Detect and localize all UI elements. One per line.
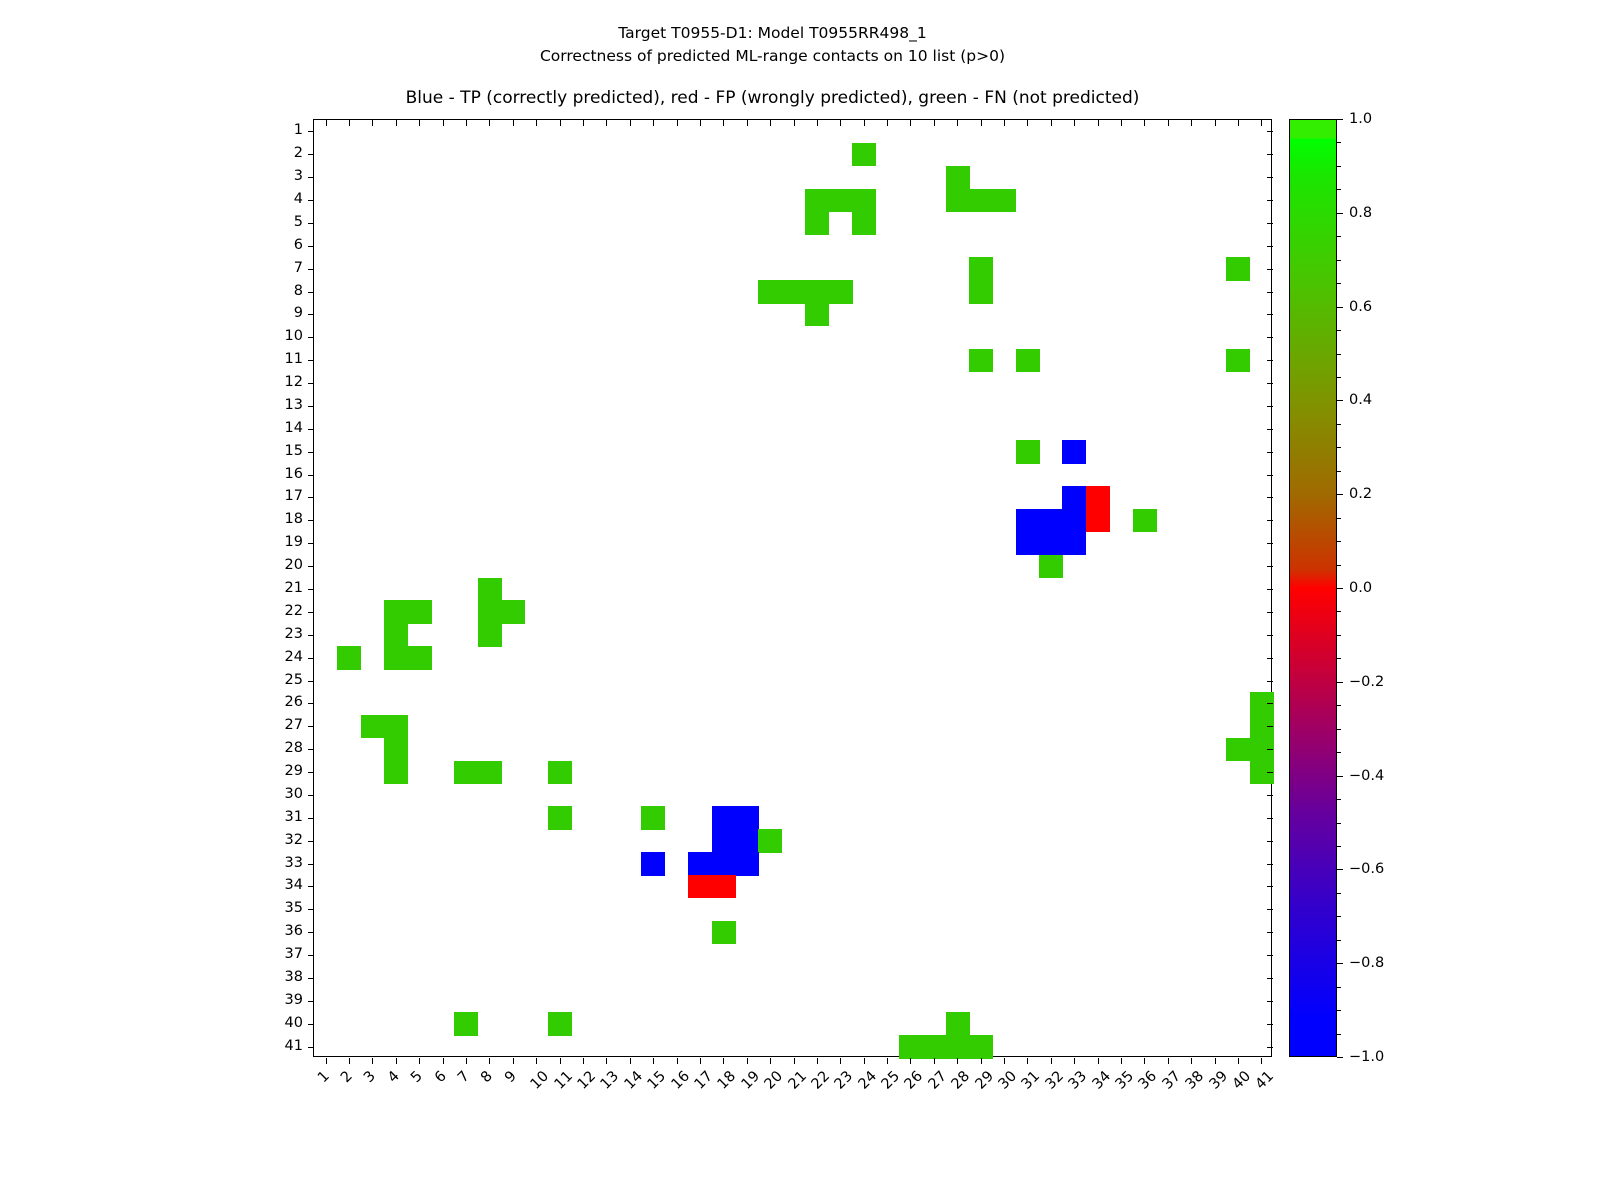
y-tick-label: 1 [257,123,303,138]
y-tick [1267,1024,1273,1025]
y-tick [1267,955,1273,956]
x-tick [536,1058,537,1064]
y-tick-label: 10 [257,329,303,344]
y-tick [1267,429,1273,430]
heatmap-cell-fn [384,715,408,738]
contact-map-figure: Target T0955-D1: Model T0955RR498_1 Corr… [0,0,1600,1200]
y-tick-label: 26 [257,695,303,710]
x-tick [840,120,841,126]
x-tick [887,120,888,126]
x-tick-label: 4 [386,1069,403,1086]
y-tick-label: 29 [257,764,303,779]
x-tick-label: 10 [529,1069,552,1092]
colorbar-tick [1337,400,1343,401]
y-tick [308,795,314,796]
x-tick [1004,120,1005,126]
y-tick-label: 5 [257,215,303,230]
colorbar-tick-label: −0.6 [1349,862,1384,877]
y-tick [308,131,314,132]
y-tick [1267,497,1273,498]
y-tick [1267,703,1273,704]
y-tick-label: 36 [257,924,303,939]
y-tick [308,749,314,750]
legend-subtitle: Blue - TP (correctly predicted), red - F… [0,88,1545,108]
y-tick [1267,269,1273,270]
y-tick [1267,635,1273,636]
x-tick [326,120,327,126]
x-tick-label: 26 [903,1069,926,1092]
heatmap-cell-fn [384,761,408,784]
colorbar-minor-tick [1337,447,1341,448]
heatmap-cells [314,120,1271,1056]
y-tick [308,406,314,407]
colorbar-gradient [1289,119,1337,1057]
x-tick [466,1058,467,1064]
x-tick [1168,1058,1169,1064]
heatmap-cell-tp [1062,532,1086,555]
x-tick [372,1058,373,1064]
x-tick [1098,1058,1099,1064]
y-tick [308,292,314,293]
y-tick-label: 7 [257,261,303,276]
y-tick [1267,177,1273,178]
x-tick-label: 8 [479,1069,496,1086]
heatmap-cell-fn [548,761,572,784]
x-tick [630,1058,631,1064]
colorbar-tick [1337,1057,1343,1058]
y-tick [308,909,314,910]
y-tick-label: 22 [257,604,303,619]
heatmap-cell-fp [712,875,736,898]
x-tick-label: 19 [739,1069,762,1092]
y-tick [1267,589,1273,590]
heatmap-cell-tp [1016,532,1040,555]
heatmap-cell-fn [384,623,408,646]
y-tick [1267,200,1273,201]
colorbar-minor-tick [1337,611,1341,612]
x-tick-label: 32 [1043,1069,1066,1092]
y-tick-label: 30 [257,787,303,802]
x-tick [1074,120,1075,126]
x-tick-label: 21 [786,1069,809,1092]
y-tick [1267,566,1273,567]
y-tick [1267,223,1273,224]
heatmap-cell-tp [735,852,759,875]
colorbar-minor-tick [1337,471,1341,472]
x-tick [1215,120,1216,126]
y-tick [308,246,314,247]
y-tick [308,864,314,865]
y-tick [1267,383,1273,384]
x-tick [326,1058,327,1064]
y-tick-label: 41 [257,1039,303,1054]
y-tick [1267,681,1273,682]
colorbar-minor-tick [1337,330,1341,331]
colorbar-tick [1337,588,1343,589]
x-tick [1238,120,1239,126]
colorbar-tick [1337,776,1343,777]
y-tick [308,658,314,659]
y-tick [308,383,314,384]
y-tick [1267,131,1273,132]
x-tick [1261,120,1262,126]
y-tick [1267,406,1273,407]
colorbar-tick-label: −0.4 [1349,769,1384,784]
y-tick-label: 21 [257,581,303,596]
x-tick [981,120,982,126]
y-tick-label: 28 [257,741,303,756]
colorbar-minor-tick [1337,940,1341,941]
y-tick-label: 16 [257,467,303,482]
y-tick [308,223,314,224]
x-tick [794,120,795,126]
y-tick [308,1047,314,1048]
heatmap-cell-tp [1016,509,1040,532]
colorbar-minor-tick [1337,260,1341,261]
heatmap-cell-fn [829,189,853,212]
colorbar-tick [1337,307,1343,308]
y-tick [308,612,314,613]
x-tick [864,1058,865,1064]
colorbar-tick-label: 0.8 [1349,206,1372,221]
colorbar-tick-label: 0.2 [1349,487,1372,502]
y-tick-label: 33 [257,856,303,871]
y-tick [308,818,314,819]
y-tick-label: 19 [257,535,303,550]
heatmap-cell-fp [688,875,712,898]
x-tick-label: 25 [879,1069,902,1092]
y-tick [1267,749,1273,750]
heatmap-cell-fn [1039,555,1063,578]
heatmap-cell-fn [969,349,993,372]
y-tick [1267,1047,1273,1048]
x-tick-label: 13 [599,1069,622,1092]
x-tick-label: 30 [996,1069,1019,1092]
heatmap-cell-fn [758,280,782,303]
y-tick [1267,543,1273,544]
y-tick-label: 14 [257,421,303,436]
x-tick [817,1058,818,1064]
x-tick-label: 28 [950,1069,973,1092]
heatmap-cell-fn [1226,257,1250,280]
x-tick [443,1058,444,1064]
heatmap-cell-fn [852,189,876,212]
colorbar-minor-tick [1337,987,1341,988]
heatmap-cell-tp [1039,509,1063,532]
x-tick-label: 29 [973,1069,996,1092]
x-tick [1191,1058,1192,1064]
y-tick-label: 2 [257,146,303,161]
colorbar-minor-tick [1337,658,1341,659]
heatmap-cell-fn [361,715,385,738]
colorbar-minor-tick [1337,424,1341,425]
x-tick [840,1058,841,1064]
heatmap-cell-fn [946,1012,970,1035]
heatmap-cell-fn [454,1012,478,1035]
y-tick [308,1024,314,1025]
heatmap-cell-fn [1016,349,1040,372]
x-tick-label: 9 [503,1069,520,1086]
x-tick [560,120,561,126]
x-tick [560,1058,561,1064]
colorbar-tick [1337,494,1343,495]
y-tick [1267,909,1273,910]
heatmap-cell-tp [1062,509,1086,532]
x-tick-label: 11 [552,1069,575,1092]
colorbar-minor-tick [1337,916,1341,917]
y-tick-label: 15 [257,444,303,459]
colorbar-minor-tick [1337,729,1341,730]
x-tick [606,1058,607,1064]
x-tick [794,1058,795,1064]
heatmap-cell-fn [992,189,1016,212]
y-tick [308,452,314,453]
x-tick [630,120,631,126]
y-tick-label: 27 [257,718,303,733]
x-tick-label: 38 [1184,1069,1207,1092]
colorbar-minor-tick [1337,283,1341,284]
heatmap-cell-tp [735,829,759,852]
colorbar-minor-tick [1337,705,1341,706]
y-tick [1267,864,1273,865]
x-tick [583,1058,584,1064]
heatmap-cell-fp [1086,509,1110,532]
x-tick [1074,1058,1075,1064]
colorbar-tick-label: 0.6 [1349,300,1372,315]
x-tick [1098,120,1099,126]
x-tick [817,120,818,126]
heatmap-cell-fn [782,280,806,303]
heatmap-cell-fn [805,280,829,303]
y-tick [1267,292,1273,293]
y-tick [308,177,314,178]
heatmap-cell-fn [946,166,970,189]
x-tick [653,1058,654,1064]
y-tick-label: 11 [257,352,303,367]
x-tick-label: 36 [1137,1069,1160,1092]
heatmap-cell-tp [688,852,712,875]
y-tick-label: 25 [257,673,303,688]
colorbar-minor-tick [1337,1034,1341,1035]
x-tick [513,1058,514,1064]
heatmap-cell-tp [735,806,759,829]
x-tick [770,1058,771,1064]
y-tick [1267,978,1273,979]
y-tick [308,681,314,682]
x-tick [723,120,724,126]
heatmap-cell-fn [1016,440,1040,463]
heatmap-cell-fn [548,806,572,829]
x-tick-label: 22 [809,1069,832,1092]
heatmap-cell-fn [337,646,361,669]
x-tick [372,120,373,126]
heatmap-cell-fn [852,143,876,166]
y-tick [308,429,314,430]
x-tick-label: 12 [575,1069,598,1092]
y-tick [308,726,314,727]
y-tick [1267,658,1273,659]
heatmap-cell-fn [454,761,478,784]
colorbar-tick-label: 0.0 [1349,581,1372,596]
heatmap-cell-fn [922,1035,946,1058]
y-tick [1267,475,1273,476]
x-tick-label: 35 [1113,1069,1136,1092]
y-tick [1267,246,1273,247]
heatmap-cell-fn [829,280,853,303]
y-tick [308,886,314,887]
heatmap-cell-fn [384,738,408,761]
x-tick [1051,120,1052,126]
y-tick [308,841,314,842]
y-tick [1267,337,1273,338]
heatmap-cell-fn [946,189,970,212]
x-tick [677,120,678,126]
x-tick [1121,1058,1122,1064]
y-tick-label: 6 [257,238,303,253]
colorbar-minor-tick [1337,799,1341,800]
x-tick [489,1058,490,1064]
x-tick [396,1058,397,1064]
x-tick [1215,1058,1216,1064]
y-tick [1267,314,1273,315]
colorbar-minor-tick [1337,823,1341,824]
y-tick [308,589,314,590]
x-tick-label: 6 [432,1069,449,1086]
heatmap-cell-tp [1039,532,1063,555]
x-tick-label: 16 [669,1069,692,1092]
colorbar-minor-tick [1337,752,1341,753]
heatmap-cell-fn [969,1035,993,1058]
x-tick [1261,1058,1262,1064]
x-tick [349,1058,350,1064]
heatmap-cell-fn [969,189,993,212]
x-tick [677,1058,678,1064]
y-tick [1267,612,1273,613]
figure-title: Target T0955-D1: Model T0955RR498_1 Corr… [0,22,1545,68]
x-tick [513,120,514,126]
x-tick [910,120,911,126]
y-tick [1267,818,1273,819]
heatmap-cell-tp [641,852,665,875]
x-tick [489,120,490,126]
heatmap-cell-tp [1062,440,1086,463]
y-tick-label: 8 [257,284,303,299]
heatmap-cell-fn [408,646,432,669]
heatmap-cell-tp [1062,486,1086,509]
heatmap-cell-fn [805,303,829,326]
x-tick [1121,120,1122,126]
heatmap-cell-tp [712,829,736,852]
x-tick-label: 34 [1090,1069,1113,1092]
y-tick [1267,452,1273,453]
colorbar-tick [1337,963,1343,964]
x-tick-label: 14 [622,1069,645,1092]
colorbar-minor-tick [1337,565,1341,566]
colorbar: 1.00.80.60.40.20.0−0.2−0.4−0.6−0.8−1.0 [1289,119,1337,1057]
x-tick [747,120,748,126]
y-tick [1267,772,1273,773]
y-tick-label: 24 [257,650,303,665]
x-tick-label: 33 [1067,1069,1090,1092]
heatmap-cell-fn [805,212,829,235]
y-tick [308,1001,314,1002]
x-tick-label: 7 [456,1069,473,1086]
x-tick-label: 31 [1020,1069,1043,1092]
x-tick-label: 15 [646,1069,669,1092]
title-line-2: Correctness of predicted ML-range contac… [0,45,1545,68]
heatmap-cell-fn [641,806,665,829]
heatmap-cell-tp [712,806,736,829]
y-tick-label: 9 [257,306,303,321]
x-tick [443,120,444,126]
x-tick [934,1058,935,1064]
y-tick-label: 13 [257,398,303,413]
x-tick-label: 40 [1230,1069,1253,1092]
colorbar-minor-tick [1337,518,1341,519]
y-tick [308,497,314,498]
x-tick-label: 20 [763,1069,786,1092]
colorbar-minor-tick [1337,354,1341,355]
y-tick-label: 4 [257,192,303,207]
x-tick-label: 41 [1254,1069,1277,1092]
y-tick [308,475,314,476]
heatmap-cell-fn [1226,349,1250,372]
x-tick [910,1058,911,1064]
y-tick-label: 31 [257,810,303,825]
y-tick-label: 20 [257,558,303,573]
x-tick [1051,1058,1052,1064]
y-tick [308,978,314,979]
x-tick [1191,120,1192,126]
x-tick [466,120,467,126]
y-tick [308,314,314,315]
heatmap-cell-fn [1226,738,1250,761]
y-tick-label: 34 [257,878,303,893]
heatmap-cell-fn [478,623,502,646]
y-tick [1267,932,1273,933]
heatmap-cell-fn [384,600,408,623]
colorbar-minor-tick [1337,142,1341,143]
x-tick-label: 5 [409,1069,426,1086]
colorbar-minor-tick [1337,377,1341,378]
heatmap-cell-fn [899,1035,923,1058]
colorbar-minor-tick [1337,166,1341,167]
y-tick-label: 23 [257,627,303,642]
y-tick-label: 3 [257,169,303,184]
y-tick [1267,795,1273,796]
colorbar-minor-tick [1337,635,1341,636]
x-tick-label: 18 [716,1069,739,1092]
y-tick [308,566,314,567]
x-tick [700,1058,701,1064]
y-tick-label: 17 [257,489,303,504]
y-tick [1267,726,1273,727]
y-tick-label: 35 [257,901,303,916]
y-tick [308,200,314,201]
y-tick [308,337,314,338]
x-tick [653,120,654,126]
x-tick [957,120,958,126]
heatmap-cell-fn [805,189,829,212]
colorbar-tick [1337,682,1343,683]
colorbar-tick-label: −1.0 [1349,1050,1384,1065]
y-tick-label: 32 [257,833,303,848]
y-tick [1267,360,1273,361]
x-tick [606,120,607,126]
x-tick [1027,1058,1028,1064]
colorbar-tick-label: −0.8 [1349,956,1384,971]
x-tick-label: 39 [1207,1069,1230,1092]
